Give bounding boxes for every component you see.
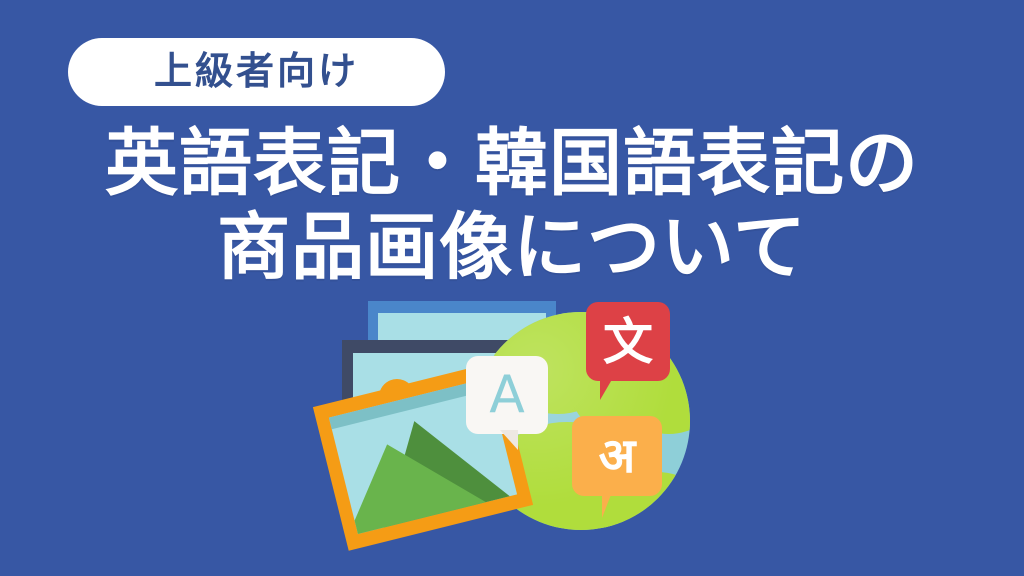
speech-bubble-chinese-glyph: 文	[603, 317, 653, 367]
page-title-line-2: 商品画像について	[0, 206, 1024, 290]
difficulty-badge-label: 上級者向け	[154, 53, 359, 91]
page-title: 英語表記・韓国語表記の 商品画像について	[0, 122, 1024, 290]
speech-bubble-chinese: 文	[586, 302, 670, 381]
speech-bubble-hindi: अ	[572, 416, 662, 496]
slide-canvas: 上級者向け 英語表記・韓国語表記の 商品画像について	[0, 0, 1024, 576]
speech-bubble-hindi-glyph: अ	[599, 432, 636, 480]
speech-bubble-tail	[602, 492, 626, 518]
page-title-line-1: 英語表記・韓国語表記の	[0, 122, 1024, 206]
speech-bubble-tail	[492, 430, 518, 450]
difficulty-badge: 上級者向け	[68, 38, 445, 106]
speech-bubble-english-glyph: A	[489, 369, 525, 421]
mountain-icon	[329, 424, 489, 534]
speech-bubble-tail	[600, 376, 628, 400]
speech-bubble-english: A	[466, 356, 548, 434]
translation-product-images-illustration: A 文 अ	[320, 290, 704, 552]
